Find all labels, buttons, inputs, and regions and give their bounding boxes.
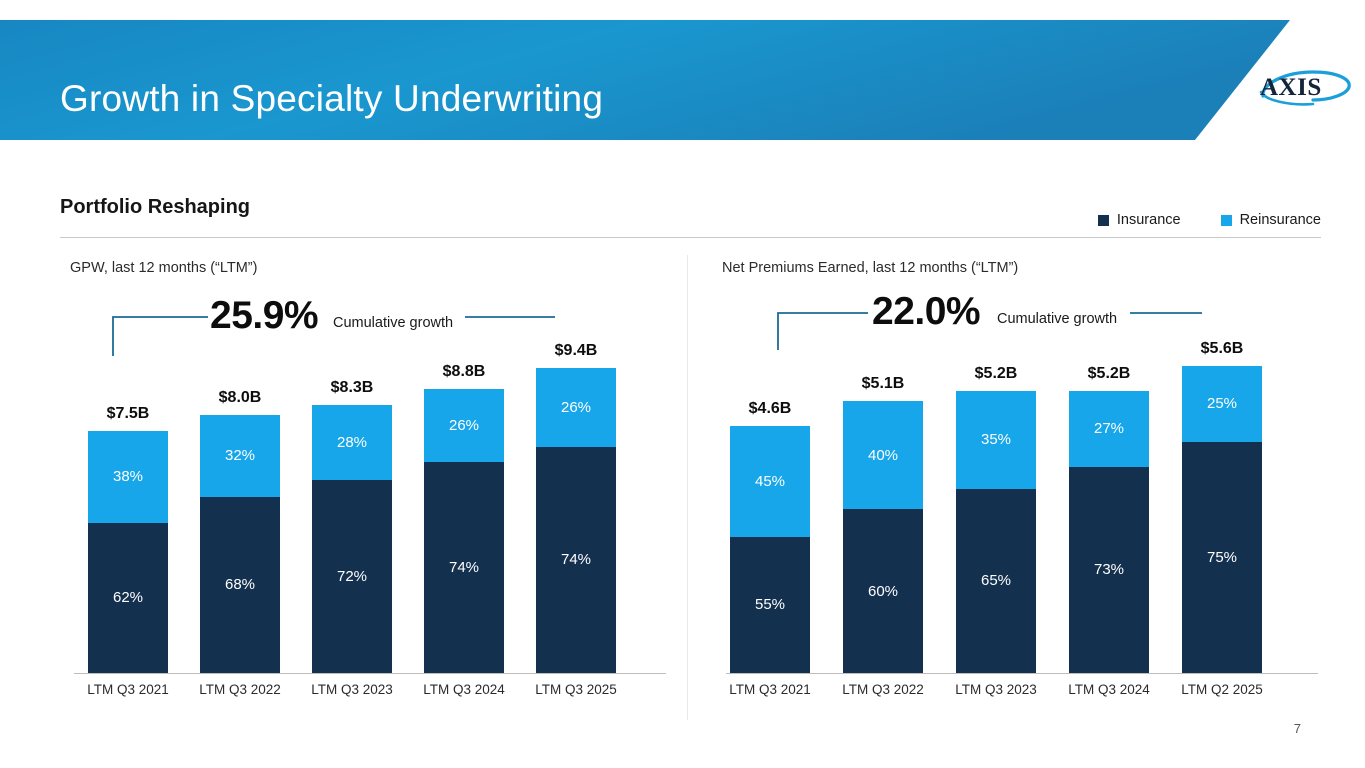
chart-panel-npe: Net Premiums Earned, last 12 months (“LT… <box>712 250 1332 710</box>
bar-total-label: $8.3B <box>312 379 392 397</box>
axis-logo: AXIS <box>1255 62 1355 112</box>
bar-stack: $7.5B 38% 62% <box>88 431 168 673</box>
bar-total-label: $8.0B <box>200 389 280 407</box>
bar-stack: $5.2B 27% 73% <box>1069 391 1149 673</box>
bar-segment-label: 40% <box>868 447 898 464</box>
callout-value-npe: 22.0% <box>872 290 980 334</box>
page-number: 7 <box>1294 721 1301 736</box>
callout-value-gpw: 25.9% <box>210 294 318 338</box>
bar-segment-label: 60% <box>868 583 898 600</box>
x-tick-label: LTM Q3 2021 <box>78 682 178 697</box>
plot-area-npe: $4.6B 45% 55% $5.1B 40% 60% $5.2B 35% <box>712 400 1332 674</box>
bar-segment-insurance: 68% <box>200 497 280 672</box>
bar-segment-label: 25% <box>1207 395 1237 412</box>
x-tick-label: LTM Q3 2024 <box>414 682 514 697</box>
bar-total-label: $8.8B <box>424 363 504 381</box>
page-title: Growth in Specialty Underwriting <box>60 78 603 120</box>
bar-total-label: $5.2B <box>1069 365 1149 383</box>
bar-segment-label: 45% <box>755 473 785 490</box>
bar-segment-reinsurance: 32% <box>200 415 280 498</box>
bar-stack: $8.8B 26% 74% <box>424 389 504 673</box>
bar-segment-reinsurance: 26% <box>424 389 504 463</box>
x-tick-label: LTM Q3 2025 <box>526 682 626 697</box>
bar-segment-insurance: 74% <box>536 447 616 673</box>
x-tick-label: LTM Q3 2023 <box>302 682 402 697</box>
bar-segment-label: 55% <box>755 596 785 613</box>
bar-stack: $8.3B 28% 72% <box>312 405 392 673</box>
bar-segment-label: 74% <box>449 559 479 576</box>
bar-segment-label: 32% <box>225 447 255 464</box>
bar-segment-label: 73% <box>1094 561 1124 578</box>
bar-segment-label: 65% <box>981 572 1011 589</box>
bar-segment-label: 35% <box>981 431 1011 448</box>
x-tick-label: LTM Q3 2022 <box>190 682 290 697</box>
bar-segment-reinsurance: 35% <box>956 391 1036 490</box>
legend-label-insurance: Insurance <box>1117 212 1181 228</box>
callout-caption-npe: Cumulative growth <box>997 311 1117 327</box>
bar-stack: $4.6B 45% 55% <box>730 426 810 673</box>
bar-segment-label: 28% <box>337 434 367 451</box>
x-tick-label: LTM Q3 2024 <box>1059 682 1159 697</box>
section-heading: Portfolio Reshaping <box>60 196 250 219</box>
bar-segment-reinsurance: 26% <box>536 368 616 447</box>
bar-segment-insurance: 72% <box>312 480 392 673</box>
bar-total-label: $5.2B <box>956 365 1036 383</box>
x-tick-label: LTM Q3 2022 <box>833 682 933 697</box>
bar-segment-reinsurance: 45% <box>730 426 810 537</box>
legend-swatch-insurance <box>1098 215 1109 226</box>
bar-stack: $5.2B 35% 65% <box>956 391 1036 673</box>
legend-item-insurance: Insurance <box>1098 212 1181 228</box>
bar-segment-insurance: 60% <box>843 509 923 672</box>
chart-title-gpw: GPW, last 12 months (“LTM”) <box>70 260 257 276</box>
plot-area-gpw: $7.5B 38% 62% $8.0B 32% 68% $8.3B 28% <box>60 400 680 674</box>
bar-segment-reinsurance: 38% <box>88 431 168 523</box>
bar-segment-label: 72% <box>337 568 367 585</box>
bar-segment-insurance: 75% <box>1182 442 1262 672</box>
x-tick-label: LTM Q3 2023 <box>946 682 1046 697</box>
bar-segment-insurance: 65% <box>956 489 1036 672</box>
x-tick-label: LTM Q3 2021 <box>720 682 820 697</box>
bar-segment-insurance: 62% <box>88 523 168 673</box>
panel-divider <box>687 255 688 720</box>
bar-segment-label: 26% <box>449 417 479 434</box>
bar-total-label: $4.6B <box>730 400 810 418</box>
growth-callout-npe: 22.0% Cumulative growth <box>712 308 1332 368</box>
callout-caption-gpw: Cumulative growth <box>333 315 453 331</box>
bar-total-label: $7.5B <box>88 405 168 423</box>
chart-title-npe: Net Premiums Earned, last 12 months (“LT… <box>722 260 1018 276</box>
bar-segment-label: 27% <box>1094 420 1124 437</box>
legend-swatch-reinsurance <box>1221 215 1232 226</box>
header-banner: Growth in Specialty Underwriting <box>0 20 1365 140</box>
bar-segment-label: 38% <box>113 468 143 485</box>
bar-segment-insurance: 55% <box>730 537 810 673</box>
bar-segment-label: 74% <box>561 551 591 568</box>
axis-baseline-npe <box>726 673 1318 674</box>
chart-panel-gpw: GPW, last 12 months (“LTM”) 25.9% Cumula… <box>60 250 680 710</box>
bar-stack: $5.1B 40% 60% <box>843 401 923 673</box>
bar-total-label: $5.1B <box>843 375 923 393</box>
bar-segment-label: 68% <box>225 576 255 593</box>
bar-segment-insurance: 74% <box>424 462 504 672</box>
bar-segment-reinsurance: 25% <box>1182 366 1262 443</box>
bar-stack: $8.0B 32% 68% <box>200 415 280 673</box>
legend-label-reinsurance: Reinsurance <box>1240 212 1321 228</box>
heading-divider <box>60 237 1321 238</box>
bar-stack: $9.4B 26% 74% <box>536 368 616 673</box>
bar-segment-insurance: 73% <box>1069 467 1149 673</box>
x-tick-label: LTM Q2 2025 <box>1172 682 1272 697</box>
bar-total-label: $5.6B <box>1182 340 1262 358</box>
bar-segment-label: 75% <box>1207 549 1237 566</box>
bar-stack: $5.6B 25% 75% <box>1182 366 1262 673</box>
axis-baseline-gpw <box>74 673 666 674</box>
legend-item-reinsurance: Reinsurance <box>1221 212 1321 228</box>
bar-segment-reinsurance: 40% <box>843 401 923 510</box>
bar-segment-reinsurance: 27% <box>1069 391 1149 467</box>
bar-segment-label: 26% <box>561 399 591 416</box>
logo-wordmark: AXIS <box>1260 74 1322 102</box>
bar-segment-reinsurance: 28% <box>312 405 392 480</box>
chart-legend: Insurance Reinsurance <box>1098 212 1321 228</box>
bar-total-label: $9.4B <box>536 342 616 360</box>
bar-segment-label: 62% <box>113 589 143 606</box>
